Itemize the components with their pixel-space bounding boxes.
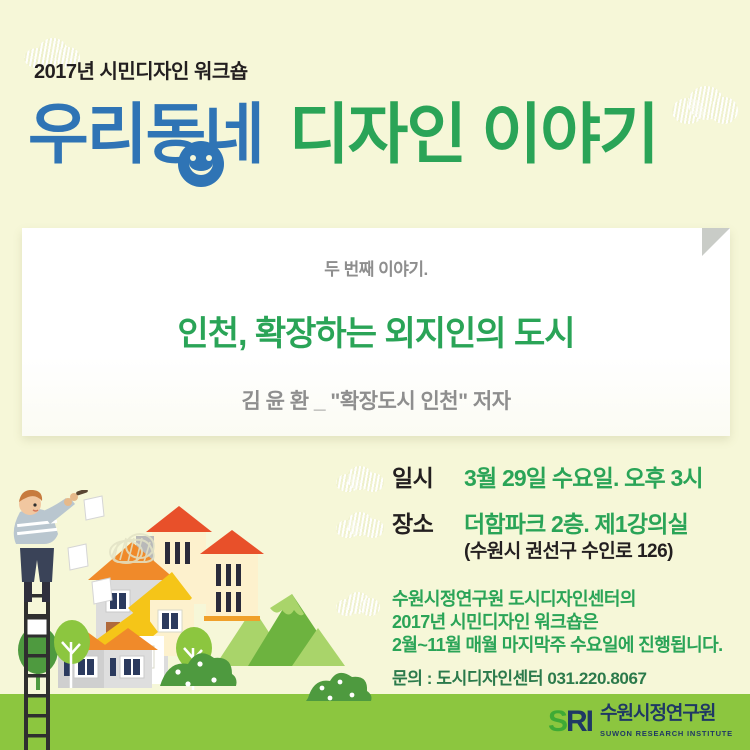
headline-blue-text: 우리동네: [28, 97, 263, 171]
description-line: 2월~11월 매월 마지막주 수요일에 진행됩니다.: [392, 635, 722, 655]
event-poster: 2017년 시민디자인 워크숍 우리동네 디자인 이야기 두 번째 이야기. 인…: [0, 0, 750, 750]
smiley-face-icon: [178, 141, 224, 187]
card-author: 김 윤 환 _ "확장도시 인천" 저자: [22, 385, 730, 415]
poster-headline: 우리동네 디자인 이야기: [28, 88, 728, 180]
contact-line: 문의 : 도시디자인센터 031.220.8067: [392, 664, 746, 689]
sri-name-korean: 수원시정연구원: [600, 703, 715, 724]
card-fold-corner-icon: [702, 228, 730, 256]
sri-logo: SRI 수원시정연구원 SUWON RESEARCH INSTITUTE: [534, 698, 750, 746]
info-address: (수원시 권선구 수인로 126): [464, 536, 673, 563]
man-on-ladder-icon: [14, 490, 104, 602]
poster-eyebrow: 2017년 시민디자인 워크숍: [34, 55, 248, 84]
headline-word-blue: 우리동네: [28, 101, 263, 167]
session-card: 두 번째 이야기. 인천, 확장하는 외지인의 도시 김 윤 환 _ "확장도시…: [22, 228, 730, 436]
info-value-date: 3월 29일 수요일. 오후 3시: [464, 462, 703, 494]
card-kicker: 두 번째 이야기.: [22, 255, 730, 280]
village-illustration: [0, 490, 430, 750]
sri-mark-ri: RI: [566, 705, 592, 738]
card-title: 인천, 확장하는 외지인의 도시: [22, 306, 730, 355]
sri-mark-s: S: [548, 705, 566, 738]
headline-word-green: 디자인 이야기: [289, 101, 658, 167]
sri-name-english: SUWON RESEARCH INSTITUTE: [600, 729, 733, 738]
sri-wordmark: SRI: [548, 707, 592, 737]
